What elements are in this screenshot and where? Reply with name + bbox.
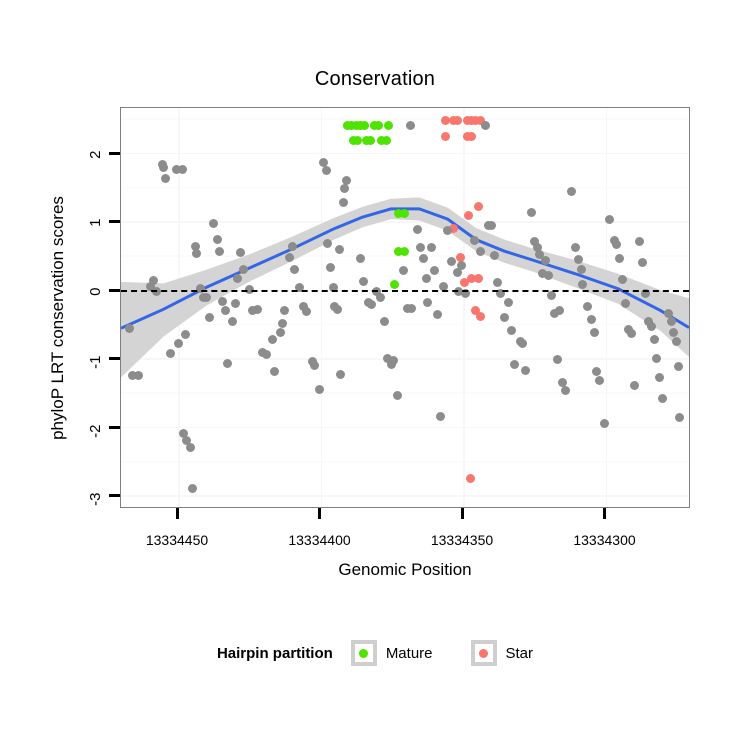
data-point-other	[518, 339, 527, 348]
y-tick-label: 1	[87, 219, 104, 227]
y-tick-label: 2	[87, 150, 104, 158]
x-tick-mark	[318, 508, 321, 519]
data-point-other	[413, 225, 422, 234]
data-point-star	[474, 202, 483, 211]
data-point-other	[618, 275, 627, 284]
data-point-other	[336, 370, 345, 379]
data-point-other	[541, 256, 550, 265]
data-point-other	[621, 299, 630, 308]
legend-key-mature	[351, 640, 377, 666]
data-point-other	[493, 278, 502, 287]
data-point-other	[399, 266, 408, 275]
data-point-other	[419, 254, 428, 263]
data-point-other	[655, 373, 664, 382]
data-point-other	[567, 187, 576, 196]
x-tick-mark	[603, 508, 606, 519]
data-point-other	[268, 335, 277, 344]
data-point-mature	[384, 121, 393, 130]
data-point-mature	[360, 121, 369, 130]
data-point-other	[658, 394, 667, 403]
data-point-other	[125, 324, 134, 333]
legend-label-mature: Mature	[386, 645, 433, 662]
y-tick-label: -3	[87, 493, 104, 506]
data-point-other	[335, 245, 344, 254]
data-point-other	[650, 335, 659, 344]
data-point-other	[376, 293, 385, 302]
data-point-other	[423, 298, 432, 307]
data-point-other	[359, 277, 368, 286]
data-point-other	[577, 265, 586, 274]
data-point-other	[433, 310, 442, 319]
data-point-other	[278, 319, 287, 328]
y-tick-label: -1	[87, 356, 104, 369]
data-point-other	[406, 121, 415, 130]
data-point-other	[669, 328, 678, 337]
data-point-other	[192, 249, 201, 258]
data-point-other	[553, 355, 562, 364]
data-point-other	[470, 236, 479, 245]
data-point-other	[630, 381, 639, 390]
data-point-star	[466, 474, 475, 483]
data-point-other	[615, 254, 624, 263]
legend-key-star	[471, 640, 497, 666]
data-point-other	[134, 371, 143, 380]
data-point-other	[647, 322, 656, 331]
x-tick-label: 13334300	[573, 532, 635, 548]
y-tick-mark	[109, 357, 120, 360]
y-tick-mark	[109, 289, 120, 292]
data-point-other	[181, 330, 190, 339]
x-tick-label: 13334350	[431, 532, 493, 548]
data-point-other	[600, 419, 609, 428]
data-point-other	[239, 265, 248, 274]
chart-title: Conservation	[0, 68, 750, 91]
data-point-other	[561, 386, 570, 395]
data-point-other	[288, 242, 297, 251]
x-tick-mark	[461, 508, 464, 519]
data-point-other	[322, 166, 331, 175]
data-point-mature	[374, 121, 383, 130]
data-point-other	[638, 258, 647, 267]
x-tick-mark	[176, 508, 179, 519]
data-point-other	[583, 302, 592, 311]
y-tick-label: 0	[87, 287, 104, 295]
data-point-other	[342, 176, 351, 185]
y-tick-mark	[109, 152, 120, 155]
data-point-other	[416, 243, 425, 252]
data-point-other	[574, 255, 583, 264]
data-point-other	[674, 362, 683, 371]
data-point-other	[323, 239, 332, 248]
x-tick-label: 13334400	[288, 532, 350, 548]
data-point-other	[476, 247, 485, 256]
legend-item-mature[interactable]: Mature	[351, 640, 433, 666]
data-point-other	[339, 198, 348, 207]
data-point-other	[310, 361, 319, 370]
star-dot-icon	[479, 649, 488, 658]
data-point-other	[430, 266, 439, 275]
legend-item-star[interactable]: Star	[471, 640, 534, 666]
data-point-other	[380, 317, 389, 326]
data-point-other	[174, 339, 183, 348]
data-point-other	[315, 385, 324, 394]
y-tick-mark	[109, 426, 120, 429]
data-point-other	[571, 243, 580, 252]
y-tick-mark	[109, 494, 120, 497]
x-axis-title: Genomic Position	[120, 560, 690, 580]
data-point-mature	[390, 280, 399, 289]
data-point-other	[178, 165, 187, 174]
data-point-other	[590, 328, 599, 337]
data-point-other	[667, 317, 676, 326]
y-tick-label: -2	[87, 424, 104, 437]
data-point-other	[675, 413, 684, 422]
mature-dot-icon	[359, 649, 368, 658]
data-point-other	[285, 253, 294, 262]
y-axis-title: phyloP LRT conservation scores	[48, 108, 68, 528]
data-point-other	[221, 306, 230, 315]
data-point-other	[443, 226, 452, 235]
zero-reference-line	[121, 290, 689, 292]
data-point-other	[161, 174, 170, 183]
legend-label-star: Star	[506, 645, 534, 662]
data-point-other	[547, 291, 556, 300]
data-point-other	[302, 307, 311, 316]
data-point-other	[652, 354, 661, 363]
data-point-other	[436, 412, 445, 421]
data-point-other	[231, 299, 240, 308]
plot-area	[121, 108, 689, 507]
data-point-star	[453, 116, 462, 125]
data-point-mature	[382, 136, 391, 145]
data-point-other	[490, 251, 499, 260]
data-point-other	[290, 265, 299, 274]
data-point-mature	[400, 247, 409, 256]
chart-root: Conservation phyloP LRT conservation sco…	[0, 0, 750, 750]
data-point-other	[218, 297, 227, 306]
y-tick-mark	[109, 220, 120, 223]
data-point-other	[202, 293, 211, 302]
data-point-star	[474, 274, 483, 283]
data-point-other	[276, 328, 285, 337]
data-point-star	[476, 312, 485, 321]
legend-title: Hairpin partition	[217, 645, 333, 662]
data-point-other	[228, 317, 237, 326]
x-tick-label: 13334450	[146, 532, 208, 548]
data-point-other	[326, 263, 335, 272]
data-point-other	[422, 274, 431, 283]
data-point-other	[188, 484, 197, 493]
legend: Hairpin partition Mature Star	[0, 640, 750, 666]
data-point-other	[627, 329, 636, 338]
plot-panel	[120, 107, 690, 508]
data-point-other	[510, 360, 519, 369]
data-point-other	[481, 121, 490, 130]
